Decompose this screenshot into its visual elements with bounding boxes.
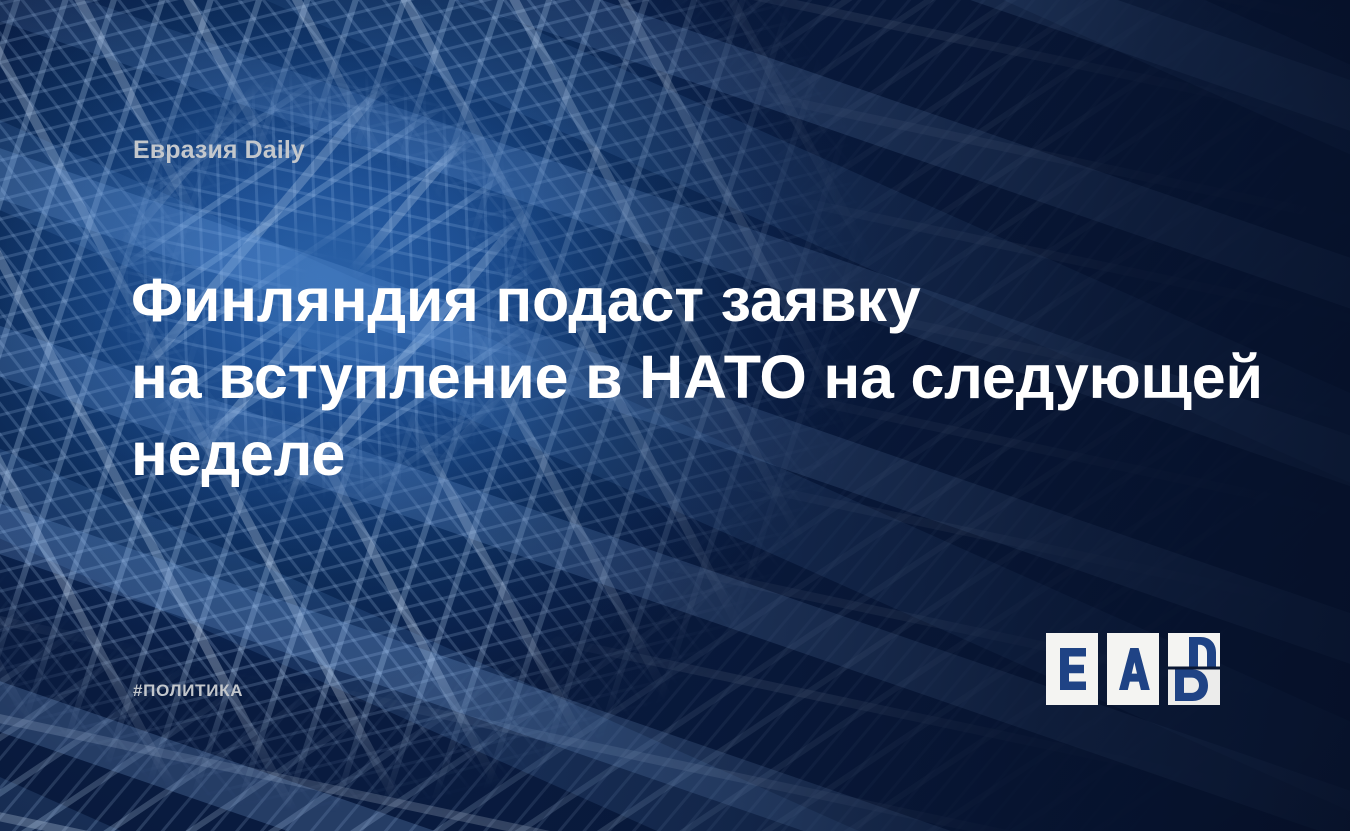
page-title: Финляндия подаст заявку на вступление в …: [131, 262, 1171, 493]
news-social-card: Евразия Daily Финляндия подаст заявку на…: [0, 0, 1350, 831]
headline-line-3: неделе: [131, 416, 1171, 493]
ead-logo-svg: [1046, 633, 1220, 705]
category-tag[interactable]: #ПОЛИТИКА: [133, 681, 243, 701]
logo-tile-a: [1107, 633, 1159, 705]
ead-logo[interactable]: [1046, 633, 1220, 705]
card-content: Евразия Daily Финляндия подаст заявку на…: [0, 0, 1350, 831]
logo-letter-e-glyph: [1060, 648, 1086, 690]
brand-name: Евразия Daily: [133, 136, 305, 165]
headline-line-1: Финляндия подаст заявку: [131, 262, 1171, 339]
headline-line-2: на вступление в НАТО на следующей: [131, 339, 1171, 416]
